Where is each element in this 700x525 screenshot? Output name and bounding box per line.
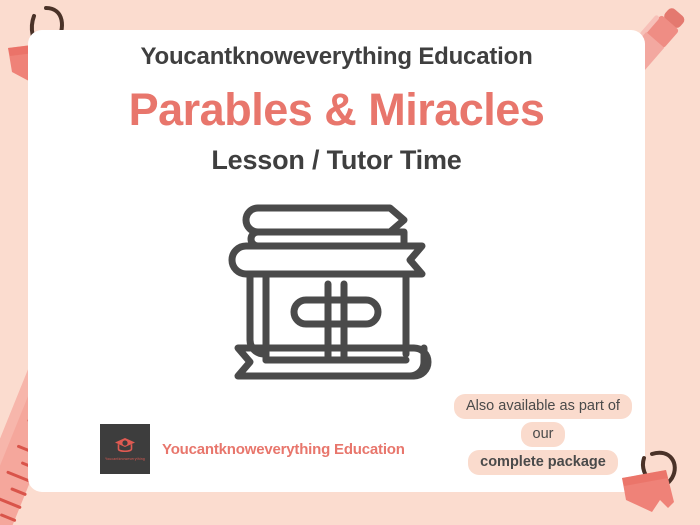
footer-brand: Youcantknoweverything Youcantknoweveryth… [100,424,405,474]
promo-badge: Also available as part of our complete p… [443,394,643,475]
poster-text-block: Youcantknoweverything Education Parables… [28,30,645,175]
binder-clip-bottom-right-icon [618,420,698,520]
promo-line-2: our [521,422,566,447]
footer-brand-label: Youcantknoweverything Education [162,441,405,458]
page-subtitle: Lesson / Tutor Time [28,146,645,176]
logo-badge: Youcantknoweverything [100,424,150,474]
graduation-cap-icon [114,437,136,455]
page-title: Parables & Miracles [28,86,645,133]
promo-line-1: Also available as part of [454,394,632,419]
poster-canvas: Youcantknoweverything Education Parables… [0,0,700,525]
promo-line-3: complete package [468,450,618,475]
stacked-books-bible-cross-icon [228,196,463,396]
logo-badge-text: Youcantknoweverything [105,457,145,461]
brand-heading: Youcantknoweverything Education [28,44,645,70]
